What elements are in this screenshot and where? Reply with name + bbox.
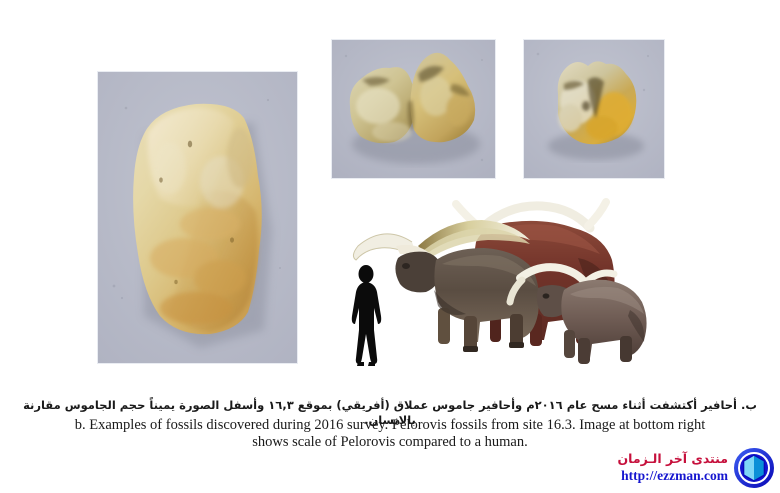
site-watermark[interactable]: منتدى آخر الـزمان http://ezzman.com <box>602 446 774 490</box>
fossil-specimen-pair-photo <box>332 40 495 178</box>
watermark-url[interactable]: http://ezzman.com <box>621 468 728 484</box>
caption-english-line-1: b. Examples of fossils discovered during… <box>0 417 780 434</box>
fossil-specimen-single-photo <box>524 40 664 178</box>
figure-page: ب. أحافير أكتشفت أثناء مسح عام ٢٠١٦م وأح… <box>0 0 780 493</box>
fossil-large-illustration <box>98 72 297 363</box>
pelorovis-scale-illustration <box>334 198 660 366</box>
fossil-specimen-large-photo <box>98 72 297 363</box>
fossil-single-illustration <box>524 40 664 178</box>
figure-area <box>0 0 780 385</box>
pelorovis-scale-photo <box>334 198 660 366</box>
ezzman-hexagon-logo-icon[interactable] <box>734 448 774 488</box>
fossil-pair-illustration <box>332 40 495 178</box>
watermark-forum-name: منتدى آخر الـزمان <box>617 452 728 466</box>
watermark-text-block: منتدى آخر الـزمان http://ezzman.com <box>617 452 728 484</box>
